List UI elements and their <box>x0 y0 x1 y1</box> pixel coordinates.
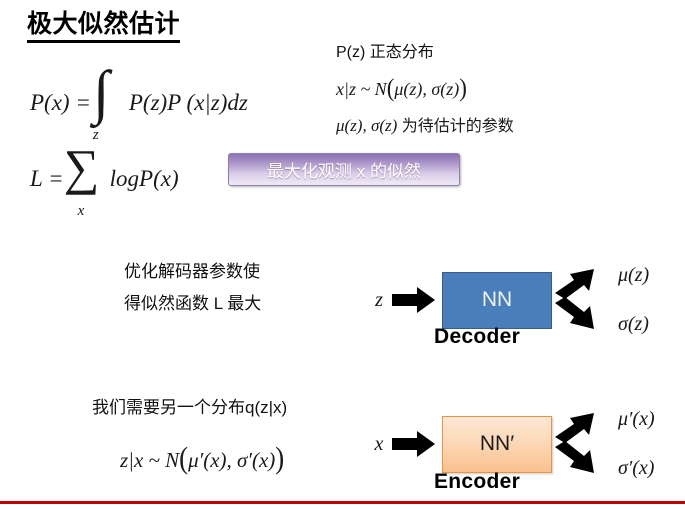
formula-posterior-open-paren: ( <box>179 441 188 476</box>
decoder-network-box: NN <box>442 272 552 329</box>
encoder-output-mu: μ′(x) <box>618 408 655 431</box>
right-arrow-icon <box>392 429 436 459</box>
encoder-description-line1: 我们需要另一个分布q(z|x) <box>92 392 287 424</box>
decoder-output-sigma: σ(z) <box>618 313 649 336</box>
callout-label: 最大化观测 x 的似然 <box>267 157 421 182</box>
formula-posterior-inner: μ′(x), σ′(x) <box>188 448 275 472</box>
formula-log-likelihood: L = ∑ x logP(x) <box>30 150 179 208</box>
decoder-description-line1: 优化解码器参数使 <box>124 256 261 288</box>
formula-posterior-close-paren: ) <box>275 441 284 476</box>
encoder-output-sigma: σ′(x) <box>618 457 655 480</box>
note-likelihood-open-paren: ( <box>387 72 395 102</box>
decoder-box-label: NN <box>482 288 512 312</box>
decoder-output-mu: μ(z) <box>618 264 649 287</box>
integral-symbol-group: ∫ z <box>91 72 125 134</box>
decoder-description: 优化解码器参数使 得似然函数 L 最大 <box>124 256 261 320</box>
note-parameter-text: 为待估计的参数 <box>397 118 513 135</box>
integral-glyph: ∫ <box>93 62 109 122</box>
arrow-up-right-icon <box>555 269 594 299</box>
note-prior-distribution: P(z) 正态分布 <box>336 38 434 62</box>
sum-subscript: x <box>78 203 85 220</box>
formula-integrand: P(z)P (x|z)dz <box>129 90 248 116</box>
arrow-up-right-icon <box>555 413 594 443</box>
right-arrow-icon <box>392 285 436 315</box>
slide-canvas: 极大似然估计 P(x) = ∫ z P(z)P (x|z)dz L = ∑ x … <box>0 0 685 509</box>
encoder-output-labels: μ′(x) σ′(x) <box>618 406 655 482</box>
note-parameter-symbols: μ(z), σ(z) <box>336 116 397 135</box>
decoder-input-label: z <box>368 289 390 312</box>
maximize-likelihood-callout[interactable]: 最大化观测 x 的似然 <box>228 153 460 186</box>
sum-symbol-group: ∑ x <box>64 150 108 208</box>
encoder-caption: Encoder <box>434 470 520 494</box>
note-likelihood-close-paren: ) <box>459 72 467 102</box>
decoder-caption: Decoder <box>434 325 520 349</box>
formula-integral-lhs: P(x) = <box>30 90 91 116</box>
sum-glyph: ∑ <box>64 142 100 192</box>
decoder-output-arrows <box>554 263 614 337</box>
formula-marginal-likelihood: P(x) = ∫ z P(z)P (x|z)dz <box>30 72 248 134</box>
decoder-description-line2: 得似然函数 L 最大 <box>124 288 261 320</box>
encoder-input-label: x <box>368 433 390 456</box>
arrow-down-right-icon <box>555 441 594 473</box>
note-conditional-likelihood: x|z ~ N(μ(z), σ(z)) <box>336 74 467 101</box>
arrow-down-right-icon <box>555 297 594 329</box>
encoder-box-label: NN′ <box>480 432 514 456</box>
encoder-output-arrows <box>554 407 614 481</box>
note-parameters-to-estimate: μ(z), σ(z) 为待估计的参数 <box>336 112 514 136</box>
encoder-description: 我们需要另一个分布q(z|x) <box>92 392 287 424</box>
formula-posterior-lead: z|x ~ N <box>120 448 179 472</box>
note-likelihood-inner: μ(z), σ(z) <box>394 79 459 99</box>
formula-summand: logP(x) <box>110 166 179 192</box>
bottom-divider <box>0 501 685 504</box>
formula-sum-lhs: L = <box>30 166 64 192</box>
formula-posterior: z|x ~ N(μ′(x), σ′(x)) <box>120 443 284 474</box>
note-likelihood-lead: x|z ~ N <box>336 79 387 99</box>
encoder-network-box: NN′ <box>442 416 552 473</box>
decoder-output-labels: μ(z) σ(z) <box>618 262 649 338</box>
page-title: 极大似然估计 <box>27 10 180 43</box>
